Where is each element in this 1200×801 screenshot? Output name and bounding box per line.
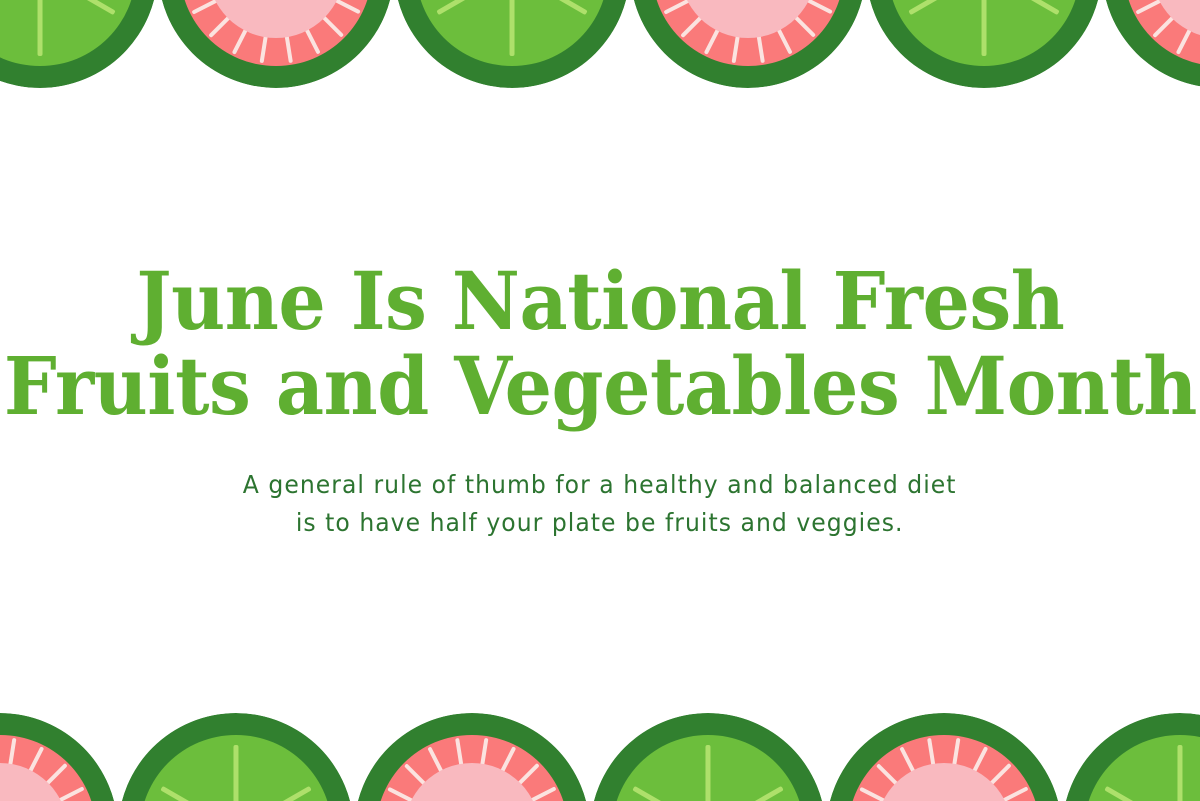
poster-canvas: June Is National Fresh Fruits and Vegeta… bbox=[0, 0, 1200, 801]
lime-slice-icon bbox=[394, 0, 630, 88]
lime-veins bbox=[0, 0, 136, 66]
top-fruit-border bbox=[0, 0, 1200, 112]
lime-slice-icon bbox=[0, 0, 158, 88]
lime-flesh bbox=[0, 0, 136, 66]
watermelon-seed bbox=[900, 746, 946, 801]
lime-vein bbox=[436, 0, 513, 15]
watermelon-seed bbox=[943, 763, 1012, 801]
lime-flesh bbox=[888, 0, 1079, 66]
watermelon-slice-icon bbox=[826, 713, 1062, 801]
watermelon-seed bbox=[747, 0, 816, 38]
watermelon-seeds bbox=[826, 713, 1062, 801]
watermelon-slice-icon bbox=[1102, 0, 1200, 88]
lime-vein bbox=[1178, 745, 1183, 801]
watermelon-seed bbox=[0, 763, 1, 801]
watermelon-seed bbox=[191, 0, 277, 14]
watermelon-slice-icon bbox=[0, 713, 118, 801]
lime-rind bbox=[118, 713, 354, 801]
lime-vein bbox=[511, 0, 588, 15]
page-title: June Is National Fresh Fruits and Vegeta… bbox=[4, 259, 1197, 429]
lime-veins bbox=[612, 735, 803, 801]
watermelon-seed bbox=[943, 787, 1029, 801]
watermelon-seed bbox=[0, 787, 85, 801]
lime-vein bbox=[234, 745, 239, 801]
watermelon-slice-icon bbox=[158, 0, 394, 88]
watermelon-flesh bbox=[1124, 0, 1200, 66]
lime-flesh bbox=[1084, 735, 1200, 801]
watermelon-flesh bbox=[376, 735, 567, 801]
watermelon-seed bbox=[208, 0, 277, 38]
watermelon-seed bbox=[0, 746, 44, 801]
watermelon-rind bbox=[630, 0, 866, 88]
lime-veins bbox=[416, 0, 607, 66]
watermelon-seed bbox=[274, 0, 320, 55]
watermelon-seed bbox=[746, 0, 792, 55]
watermelon-rind bbox=[1102, 0, 1200, 88]
watermelon-seed bbox=[731, 0, 749, 64]
lime-veins bbox=[888, 0, 1079, 66]
watermelon-slice-icon bbox=[630, 0, 866, 88]
watermelon-seed bbox=[704, 0, 750, 55]
watermelon-seed bbox=[470, 746, 516, 801]
lime-vein bbox=[707, 786, 784, 801]
lime-flesh bbox=[612, 735, 803, 801]
page-title-line-1: June Is National Fresh bbox=[4, 259, 1197, 344]
watermelon-inner bbox=[680, 0, 817, 38]
watermelon-seeds bbox=[158, 0, 394, 88]
watermelon-seed bbox=[470, 737, 488, 801]
lime-slice-icon bbox=[1062, 713, 1200, 801]
lime-vein bbox=[235, 786, 312, 801]
watermelon-flesh bbox=[848, 735, 1039, 801]
watermelon-seed bbox=[259, 0, 277, 64]
watermelon-seed bbox=[680, 0, 749, 38]
watermelon-seed bbox=[275, 0, 361, 14]
lime-vein bbox=[1179, 786, 1200, 801]
watermelon-seed bbox=[404, 763, 473, 801]
lime-flesh bbox=[416, 0, 607, 66]
watermelon-seed bbox=[455, 737, 473, 801]
lime-vein bbox=[510, 0, 515, 56]
lime-vein bbox=[706, 745, 711, 801]
lime-vein bbox=[38, 0, 43, 56]
page-subtitle-line-1: A general rule of thumb for a healthy an… bbox=[243, 466, 957, 504]
watermelon-seed bbox=[0, 746, 2, 801]
watermelon-rind bbox=[158, 0, 394, 88]
lime-vein bbox=[160, 786, 237, 801]
lime-rind bbox=[394, 0, 630, 88]
watermelon-rind bbox=[0, 713, 118, 801]
lime-slice-icon bbox=[590, 713, 826, 801]
lime-vein bbox=[908, 0, 985, 15]
lime-vein bbox=[39, 0, 116, 15]
watermelon-seed bbox=[0, 763, 68, 801]
watermelon-seed bbox=[876, 763, 945, 801]
lime-rind bbox=[1062, 713, 1200, 801]
watermelon-seeds bbox=[630, 0, 866, 88]
lime-rind bbox=[590, 713, 826, 801]
watermelon-seeds bbox=[1102, 0, 1200, 88]
lime-slice-icon bbox=[866, 0, 1102, 88]
lime-vein bbox=[0, 0, 41, 15]
watermelon-seeds bbox=[354, 713, 590, 801]
watermelon-seed bbox=[747, 0, 833, 14]
watermelon-flesh bbox=[652, 0, 843, 66]
watermelon-seed bbox=[746, 0, 764, 64]
page-title-line-2: Fruits and Vegetables Month bbox=[4, 344, 1197, 429]
lime-flesh bbox=[140, 735, 331, 801]
watermelon-rind bbox=[826, 713, 1062, 801]
watermelon-seed bbox=[1176, 0, 1200, 55]
poster-content: June Is National Fresh Fruits and Vegeta… bbox=[0, 112, 1200, 689]
lime-vein bbox=[1104, 786, 1181, 801]
watermelon-seed bbox=[274, 0, 292, 64]
lime-vein bbox=[632, 786, 709, 801]
watermelon-inner bbox=[876, 763, 1013, 801]
lime-vein bbox=[983, 0, 1060, 15]
watermelon-seed bbox=[859, 787, 945, 801]
watermelon-seeds bbox=[0, 713, 118, 801]
watermelon-rind bbox=[354, 713, 590, 801]
watermelon-seed bbox=[275, 0, 344, 38]
watermelon-seed bbox=[0, 787, 1, 801]
watermelon-seed bbox=[0, 737, 2, 801]
watermelon-seed bbox=[663, 0, 749, 14]
lime-vein bbox=[982, 0, 987, 56]
watermelon-inner bbox=[404, 763, 541, 801]
lime-veins bbox=[140, 735, 331, 801]
watermelon-seed bbox=[428, 746, 474, 801]
lime-slice-icon bbox=[118, 713, 354, 801]
page-subtitle-line-2: is to have half your plate be fruits and… bbox=[243, 504, 957, 542]
watermelon-inner bbox=[208, 0, 345, 38]
watermelon-seed bbox=[471, 787, 557, 801]
watermelon-seed bbox=[942, 737, 960, 801]
watermelon-inner bbox=[1152, 0, 1200, 38]
watermelon-flesh bbox=[0, 735, 96, 801]
watermelon-seed bbox=[1135, 0, 1200, 14]
watermelon-seed bbox=[387, 787, 473, 801]
watermelon-seed bbox=[0, 737, 17, 801]
watermelon-seed bbox=[927, 737, 945, 801]
page-subtitle: A general rule of thumb for a healthy an… bbox=[243, 466, 957, 542]
lime-rind bbox=[866, 0, 1102, 88]
watermelon-seed bbox=[471, 763, 540, 801]
bottom-fruit-border bbox=[0, 689, 1200, 801]
watermelon-seed bbox=[942, 746, 988, 801]
watermelon-seed bbox=[1152, 0, 1200, 38]
watermelon-flesh bbox=[180, 0, 371, 66]
lime-veins bbox=[1084, 735, 1200, 801]
watermelon-inner bbox=[0, 763, 68, 801]
lime-rind bbox=[0, 0, 158, 88]
watermelon-seed bbox=[232, 0, 278, 55]
watermelon-slice-icon bbox=[354, 713, 590, 801]
